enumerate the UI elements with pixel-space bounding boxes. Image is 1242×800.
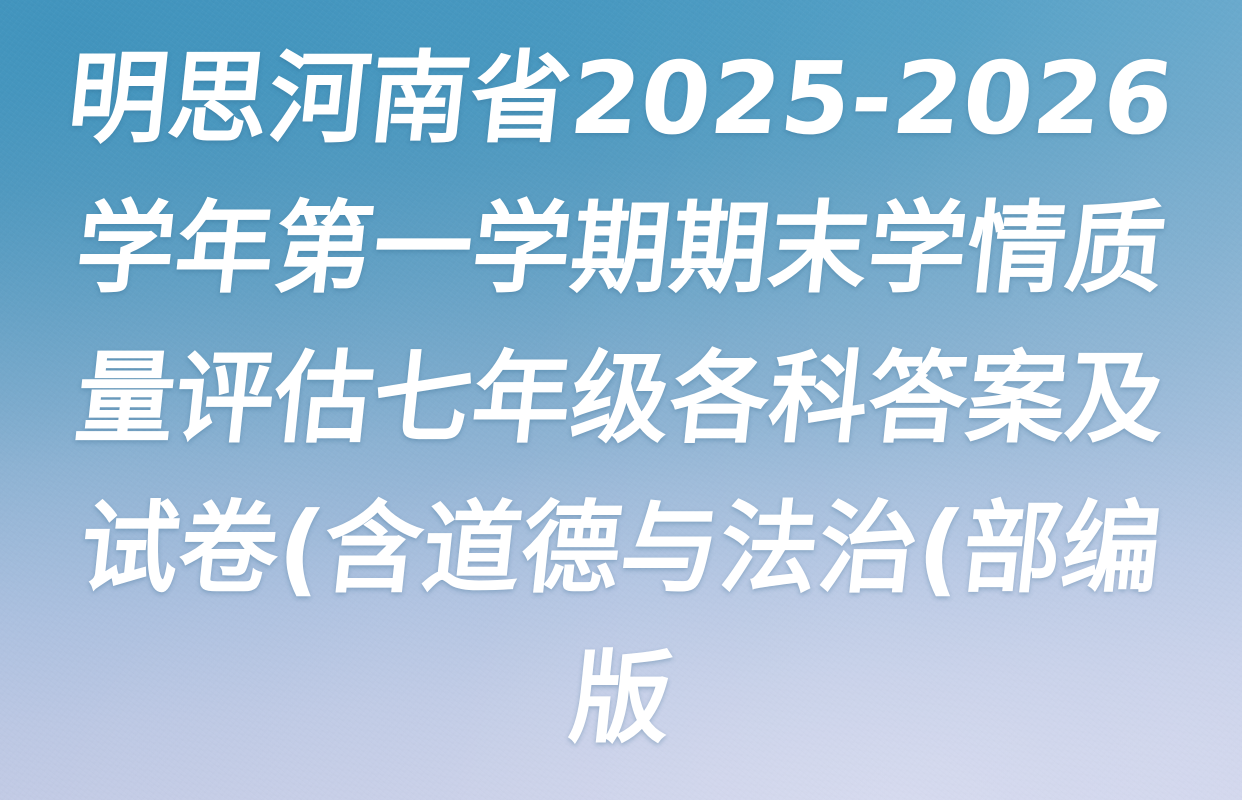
headline-line-5: 版 [0, 624, 1242, 774]
headline-line-3: 量评估七年级各科答案及 [7, 324, 1234, 474]
poster-canvas: 明思河南省2025-2026 学年第一学期期末学情质 量评估七年级各科答案及 试… [0, 0, 1242, 800]
headline-line-2: 学年第一学期期末学情质 [7, 174, 1234, 324]
headline-line-1: 明思河南省2025-2026 [0, 24, 1242, 174]
headline-line-4: 试卷(含道德与法治(部编 [7, 474, 1234, 624]
headline-block: 明思河南省2025-2026 学年第一学期期末学情质 量评估七年级各科答案及 试… [0, 24, 1242, 774]
